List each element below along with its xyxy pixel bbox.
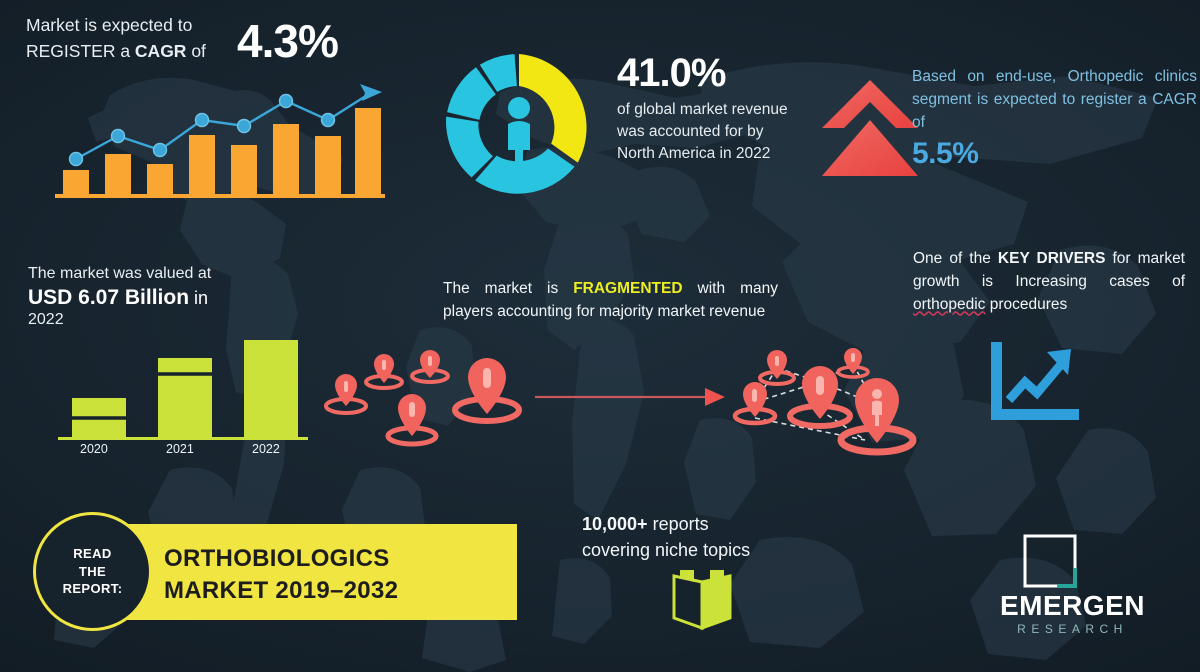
cagr-label-line2a: REGISTER a bbox=[26, 41, 135, 61]
valuation-line2: USD 6.07 Billion in bbox=[28, 286, 288, 310]
market-value-by-year-chart: 2020 2021 2022 bbox=[58, 340, 308, 440]
fragmented-highlight: FRAGMENTED bbox=[573, 280, 682, 297]
open-book-icon bbox=[668, 566, 736, 634]
valuation-line1: The market was valued at bbox=[28, 265, 288, 283]
reports-count-value: 10,000+ bbox=[582, 514, 648, 534]
reports-count-text: 10,000+ reportscovering niche topics bbox=[582, 512, 812, 563]
cagr-label-line1: Market is expected to bbox=[26, 15, 192, 35]
valuation-year: 2022 bbox=[28, 311, 288, 329]
market-growth-trend-chart bbox=[55, 78, 385, 198]
cagr-headline-block: Market is expected to REGISTER a CAGR of… bbox=[26, 12, 406, 68]
key-drivers-post: procedures bbox=[985, 296, 1067, 313]
trend-arrowhead bbox=[360, 84, 382, 101]
logo-name: EMERGEN bbox=[975, 590, 1170, 622]
read-label-line3: REPORT: bbox=[63, 581, 123, 596]
north-america-share-block: 41.0% of global market revenue was accou… bbox=[617, 52, 792, 165]
connected-location-pins bbox=[725, 340, 930, 465]
reports-count-suffix: reports bbox=[648, 514, 709, 534]
key-drivers-spellcheck-word: orthopedic bbox=[913, 296, 985, 313]
end-use-description: Based on end-use, Orthopedic clinics seg… bbox=[912, 66, 1197, 135]
key-drivers-pre: One of the bbox=[913, 250, 998, 267]
infographic-canvas: Market is expected to REGISTER a CAGR of… bbox=[0, 0, 1200, 672]
valuation-amount: USD 6.07 Billion bbox=[28, 286, 189, 309]
fragmented-market-block: The market is FRAGMENTED with many playe… bbox=[443, 277, 778, 324]
read-label-line1: READ bbox=[73, 546, 111, 561]
read-the-report-banner[interactable]: ORTHOBIOLOGICS MARKET 2019–2032 bbox=[92, 524, 517, 620]
read-the-report-label: READ THE REPORT: bbox=[63, 545, 123, 597]
logo-square-icon bbox=[1023, 534, 1077, 588]
growth-chart-icon bbox=[985, 338, 1085, 430]
report-title-line1: ORTHOBIOLOGICS bbox=[164, 545, 390, 572]
report-title: ORTHOBIOLOGICS MARKET 2019–2032 bbox=[164, 543, 494, 607]
green-chart-xlabel-2: 2022 bbox=[252, 442, 280, 456]
pin-group bbox=[326, 350, 519, 444]
cagr-label: Market is expected to REGISTER a CAGR of bbox=[26, 12, 231, 65]
logo-subtitle: RESEARCH bbox=[975, 622, 1170, 636]
flow-arrow-icon bbox=[535, 385, 725, 409]
cagr-label-emphasis: CAGR bbox=[135, 41, 187, 61]
green-chart-xlabel-0: 2020 bbox=[80, 442, 108, 456]
end-use-block: Based on end-use, Orthopedic clinics seg… bbox=[912, 66, 1197, 171]
report-title-line2: MARKET 2019–2032 bbox=[164, 577, 398, 604]
fragmented-pre: The market is bbox=[443, 280, 573, 297]
cagr-label-line2c: of bbox=[186, 41, 205, 61]
market-valuation-block: The market was valued at USD 6.07 Billio… bbox=[28, 265, 288, 329]
key-drivers-description: One of the KEY DRIVERS for market growth… bbox=[913, 248, 1185, 316]
emergen-research-logo: EMERGEN RESEARCH bbox=[975, 534, 1170, 644]
read-label-line2: THE bbox=[79, 564, 106, 579]
scattered-location-pins bbox=[322, 350, 532, 460]
reports-count-line2: covering niche topics bbox=[582, 540, 750, 560]
up-chevron-icon bbox=[818, 72, 922, 184]
north-america-value: 41.0% bbox=[617, 52, 792, 94]
regional-revenue-share-donut bbox=[435, 44, 603, 212]
reports-count-block: 10,000+ reportscovering niche topics bbox=[582, 512, 812, 563]
valuation-suffix: in bbox=[189, 288, 208, 308]
fragmented-description: The market is FRAGMENTED with many playe… bbox=[443, 277, 778, 324]
cagr-value: 4.3% bbox=[237, 14, 338, 68]
read-the-report-button[interactable]: READ THE REPORT: bbox=[33, 512, 152, 631]
green-chart-xlabel-1: 2021 bbox=[166, 442, 194, 456]
north-america-description: of global market revenue was accounted f… bbox=[617, 99, 792, 165]
key-drivers-block: One of the KEY DRIVERS for market growth… bbox=[913, 248, 1185, 316]
key-drivers-emphasis: KEY DRIVERS bbox=[998, 250, 1106, 267]
end-use-cagr-value: 5.5% bbox=[912, 137, 1197, 171]
